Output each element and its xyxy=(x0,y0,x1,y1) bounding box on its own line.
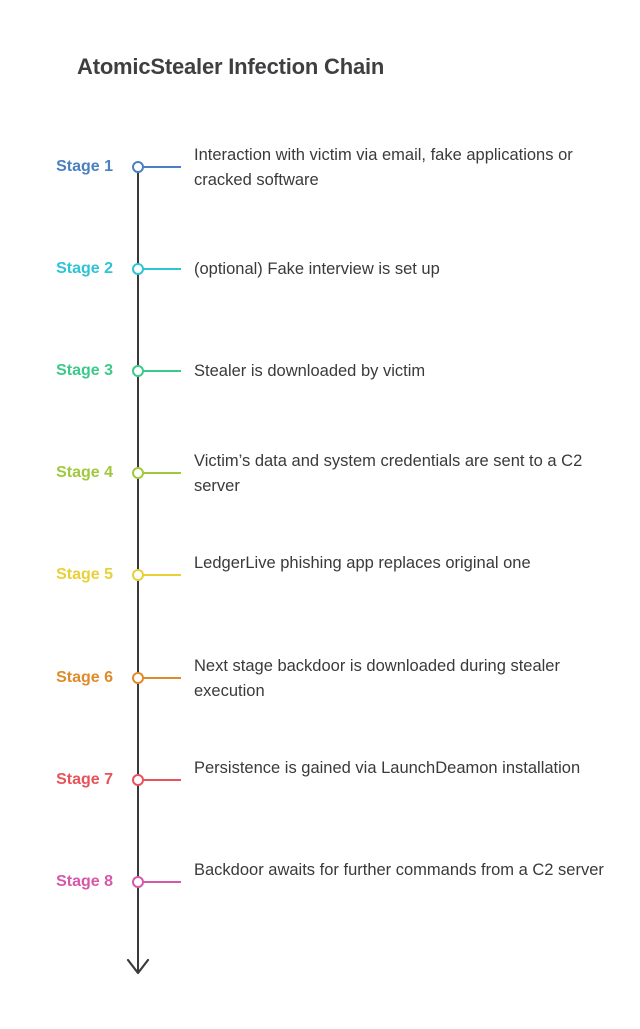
stage-description: (optional) Fake interview is set up xyxy=(194,257,609,282)
stage-node-icon xyxy=(132,774,144,786)
stage-label: Stage 3 xyxy=(0,362,113,380)
stage-description: Victim’s data and system credentials are… xyxy=(194,449,609,499)
stage-connector-line xyxy=(138,881,181,883)
stage-label: Stage 7 xyxy=(0,771,113,789)
stage-description: Persistence is gained via LaunchDeamon i… xyxy=(194,756,609,781)
stage-node-icon xyxy=(132,876,144,888)
stage-label: Stage 5 xyxy=(0,566,113,584)
stage-connector-line xyxy=(138,574,181,576)
arrow-down-icon xyxy=(126,958,150,976)
stage-connector-line xyxy=(138,166,181,168)
timeline-spine xyxy=(137,163,139,971)
stage-label: Stage 6 xyxy=(0,669,113,687)
stage-description: LedgerLive phishing app replaces origina… xyxy=(194,551,609,576)
stage-node-icon xyxy=(132,161,144,173)
stage-node-icon xyxy=(132,263,144,275)
stage-node-icon xyxy=(132,672,144,684)
stage-label: Stage 4 xyxy=(0,464,113,482)
stage-label: Stage 8 xyxy=(0,873,113,891)
stage-connector-line xyxy=(138,779,181,781)
stage-connector-line xyxy=(138,370,181,372)
stage-description: Next stage backdoor is downloaded during… xyxy=(194,654,609,704)
stage-connector-line xyxy=(138,268,181,270)
stage-node-icon xyxy=(132,467,144,479)
stage-label: Stage 1 xyxy=(0,158,113,176)
infection-chain-timeline: Stage 1Interaction with victim via email… xyxy=(0,0,640,1029)
stage-node-icon xyxy=(132,365,144,377)
stage-node-icon xyxy=(132,569,144,581)
stage-label: Stage 2 xyxy=(0,260,113,278)
stage-connector-line xyxy=(138,677,181,679)
stage-description: Backdoor awaits for further commands fro… xyxy=(194,858,609,883)
stage-description: Interaction with victim via email, fake … xyxy=(194,143,609,193)
stage-connector-line xyxy=(138,472,181,474)
stage-description: Stealer is downloaded by victim xyxy=(194,359,609,384)
